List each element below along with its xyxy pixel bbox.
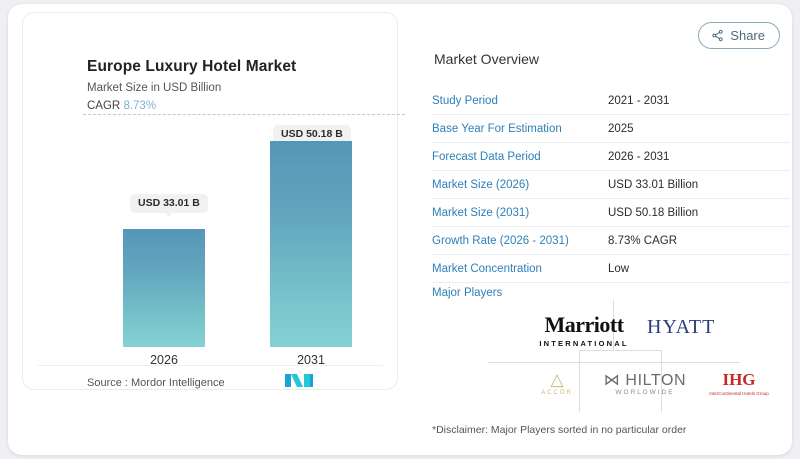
player-sub: INTERNATIONAL — [524, 339, 644, 348]
disclaimer-text: *Disclaimer: Major Players sorted in no … — [432, 424, 686, 436]
chart-plot-area: USD 33.01 B USD 50.18 B 2026 2031 — [37, 113, 399, 363]
row-value: 8.73% CAGR — [608, 235, 677, 247]
row-key: Market Concentration — [432, 263, 608, 275]
major-players-label: Major Players — [432, 287, 502, 299]
player-logo-marriott: Marriott INTERNATIONAL — [524, 312, 644, 348]
chart-cagr-label: CAGR — [87, 100, 120, 112]
hilton-mark-icon: ⋈ — [604, 372, 621, 389]
row-key: Growth Rate (2026 - 2031) — [432, 235, 608, 247]
chart-cagr: CAGR 8.73% — [87, 100, 156, 112]
row-value: USD 33.01 Billion — [608, 179, 698, 191]
row-key: Base Year For Estimation — [432, 123, 608, 135]
chart-subtitle: Market Size in USD Billion — [87, 82, 221, 94]
player-sub: InterContinental Hotels Group — [709, 391, 769, 397]
row-value: USD 50.18 Billion — [608, 207, 698, 219]
chart-card: Europe Luxury Hotel Market Market Size i… — [22, 12, 398, 390]
grid-divider — [579, 350, 662, 351]
chart-title: Europe Luxury Hotel Market — [87, 58, 296, 76]
row-value: Low — [608, 263, 629, 275]
table-row: Forecast Data Period 2026 - 2031 — [432, 143, 790, 171]
player-name-text: HILTON — [625, 372, 686, 389]
table-row: Market Size (2026) USD 33.01 Billion — [432, 171, 790, 199]
row-value: 2025 — [608, 123, 634, 135]
share-button[interactable]: Share — [698, 22, 780, 49]
source-divider — [38, 365, 383, 366]
player-logo-hyatt: HYATT — [647, 316, 757, 339]
player-name: ⋈ HILTON — [580, 370, 710, 390]
chart-cagr-value: 8.73% — [123, 100, 156, 112]
row-key: Market Size (2026) — [432, 179, 608, 191]
table-row: Market Size (2031) USD 50.18 Billion — [432, 199, 790, 227]
player-sub: WORLDWIDE — [580, 389, 710, 396]
bar-2031[interactable] — [270, 141, 352, 347]
row-value: 2021 - 2031 — [608, 95, 669, 107]
chart-source: Source : Mordor Intelligence — [87, 377, 225, 389]
grid-divider — [488, 362, 740, 363]
market-overview-table: Study Period 2021 - 2031 Base Year For E… — [432, 87, 790, 283]
table-row: Study Period 2021 - 2031 — [432, 87, 790, 115]
major-players-grid: Marriott INTERNATIONAL HYATT △ ACCOR ⋈ H… — [432, 300, 790, 412]
player-name: Marriott — [524, 312, 644, 338]
player-logo-ihg: IHG InterContinental Hotels Group — [709, 370, 769, 397]
row-key: Forecast Data Period — [432, 151, 608, 163]
player-name: IHG — [709, 370, 769, 390]
table-row: Base Year For Estimation 2025 — [432, 115, 790, 143]
bar-label-2026: USD 33.01 B — [130, 194, 208, 213]
mordor-intelligence-logo-icon — [285, 373, 313, 388]
share-button-label: Share — [730, 28, 765, 43]
bar-2026[interactable] — [123, 229, 205, 347]
share-icon — [711, 29, 724, 42]
page-card: Europe Luxury Hotel Market Market Size i… — [8, 4, 792, 455]
row-key: Market Size (2031) — [432, 207, 608, 219]
table-row: Growth Rate (2026 - 2031) 8.73% CAGR — [432, 227, 790, 255]
player-logo-hilton: ⋈ HILTON WORLDWIDE — [580, 370, 710, 396]
table-row: Market Concentration Low — [432, 255, 790, 283]
market-overview-title: Market Overview — [434, 51, 539, 67]
row-value: 2026 - 2031 — [608, 151, 669, 163]
row-key: Study Period — [432, 95, 608, 107]
